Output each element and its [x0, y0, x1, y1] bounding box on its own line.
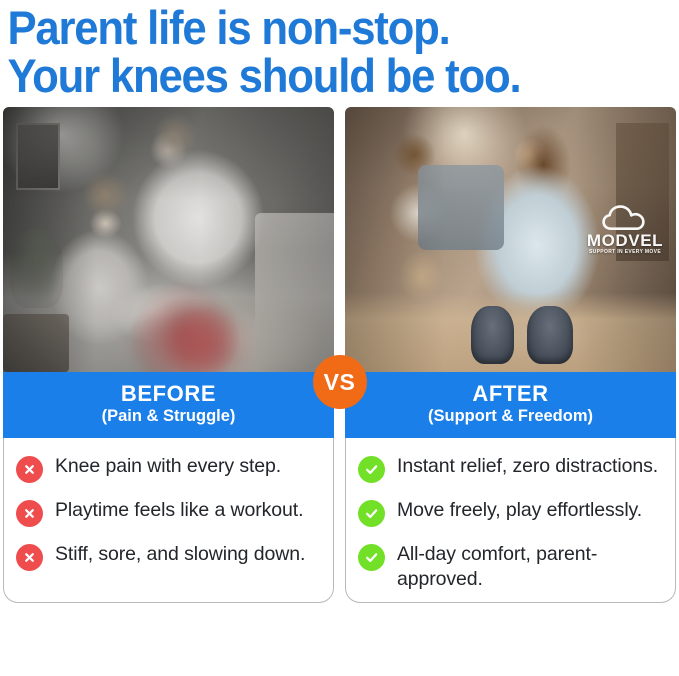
after-banner: AFTER (Support & Freedom) [345, 372, 676, 438]
before-feature-list: Knee pain with every step. Playtime feel… [16, 454, 321, 571]
before-feature-card: Knee pain with every step. Playtime feel… [3, 438, 334, 603]
x-circle-icon [16, 456, 43, 483]
headline-line-1: Parent life is non-stop. [7, 4, 624, 52]
list-item: Playtime feels like a workout. [16, 498, 321, 527]
feature-text: Knee pain with every step. [55, 454, 281, 479]
list-item: Instant relief, zero distractions. [358, 454, 663, 483]
vs-badge: VS [313, 355, 367, 409]
knee-pain-glow-icon [159, 308, 245, 372]
headline-line-2: Your knees should be too. [7, 52, 624, 100]
feature-text: All-day comfort, parent-approved. [397, 542, 663, 592]
knee-pad-right [527, 306, 573, 364]
after-photo: MODVEL SUPPORT IN EVERY MOVE [345, 107, 676, 372]
after-banner-subtitle: (Support & Freedom) [351, 406, 670, 427]
modvel-tagline: SUPPORT IN EVERY MOVE [583, 249, 667, 256]
feature-text: Instant relief, zero distractions. [397, 454, 658, 479]
before-photo [3, 107, 334, 372]
modvel-logo: MODVEL SUPPORT IN EVERY MOVE [583, 205, 667, 256]
x-circle-icon [16, 500, 43, 527]
picture-frame-decor [16, 123, 60, 191]
after-feature-list: Instant relief, zero distractions. Move … [358, 454, 663, 592]
feature-text: Stiff, sore, and slowing down. [55, 542, 305, 567]
feature-text: Playtime feels like a workout. [55, 498, 303, 523]
page-headline: Parent life is non-stop. Your knees shou… [0, 0, 631, 100]
modvel-wordmark: MODVEL [583, 232, 667, 249]
cloud-icon [602, 205, 648, 231]
before-photo-image [3, 107, 334, 372]
plant-decor [10, 229, 63, 309]
after-feature-card: Instant relief, zero distractions. Move … [345, 438, 676, 603]
side-table-decor [255, 213, 334, 372]
panel-before: BEFORE (Pain & Struggle) Knee pain with … [3, 107, 334, 603]
check-circle-icon [358, 500, 385, 527]
before-banner-title: BEFORE [9, 381, 328, 406]
list-item: Move freely, play effortlessly. [358, 498, 663, 527]
list-item: All-day comfort, parent-approved. [358, 542, 663, 592]
after-banner-title: AFTER [351, 381, 670, 406]
basket-decor [3, 314, 69, 372]
before-after-comparison: BEFORE (Pain & Struggle) Knee pain with … [0, 107, 679, 603]
feature-text: Move freely, play effortlessly. [397, 498, 642, 523]
check-circle-icon [358, 544, 385, 571]
before-banner-subtitle: (Pain & Struggle) [9, 406, 328, 427]
list-item: Stiff, sore, and slowing down. [16, 542, 321, 571]
before-banner: BEFORE (Pain & Struggle) [3, 372, 334, 438]
x-circle-icon [16, 544, 43, 571]
sofa-decor [418, 165, 504, 250]
list-item: Knee pain with every step. [16, 454, 321, 483]
panel-after: MODVEL SUPPORT IN EVERY MOVE AFTER (Supp… [345, 107, 676, 603]
knee-pad-left [471, 306, 514, 364]
check-circle-icon [358, 456, 385, 483]
